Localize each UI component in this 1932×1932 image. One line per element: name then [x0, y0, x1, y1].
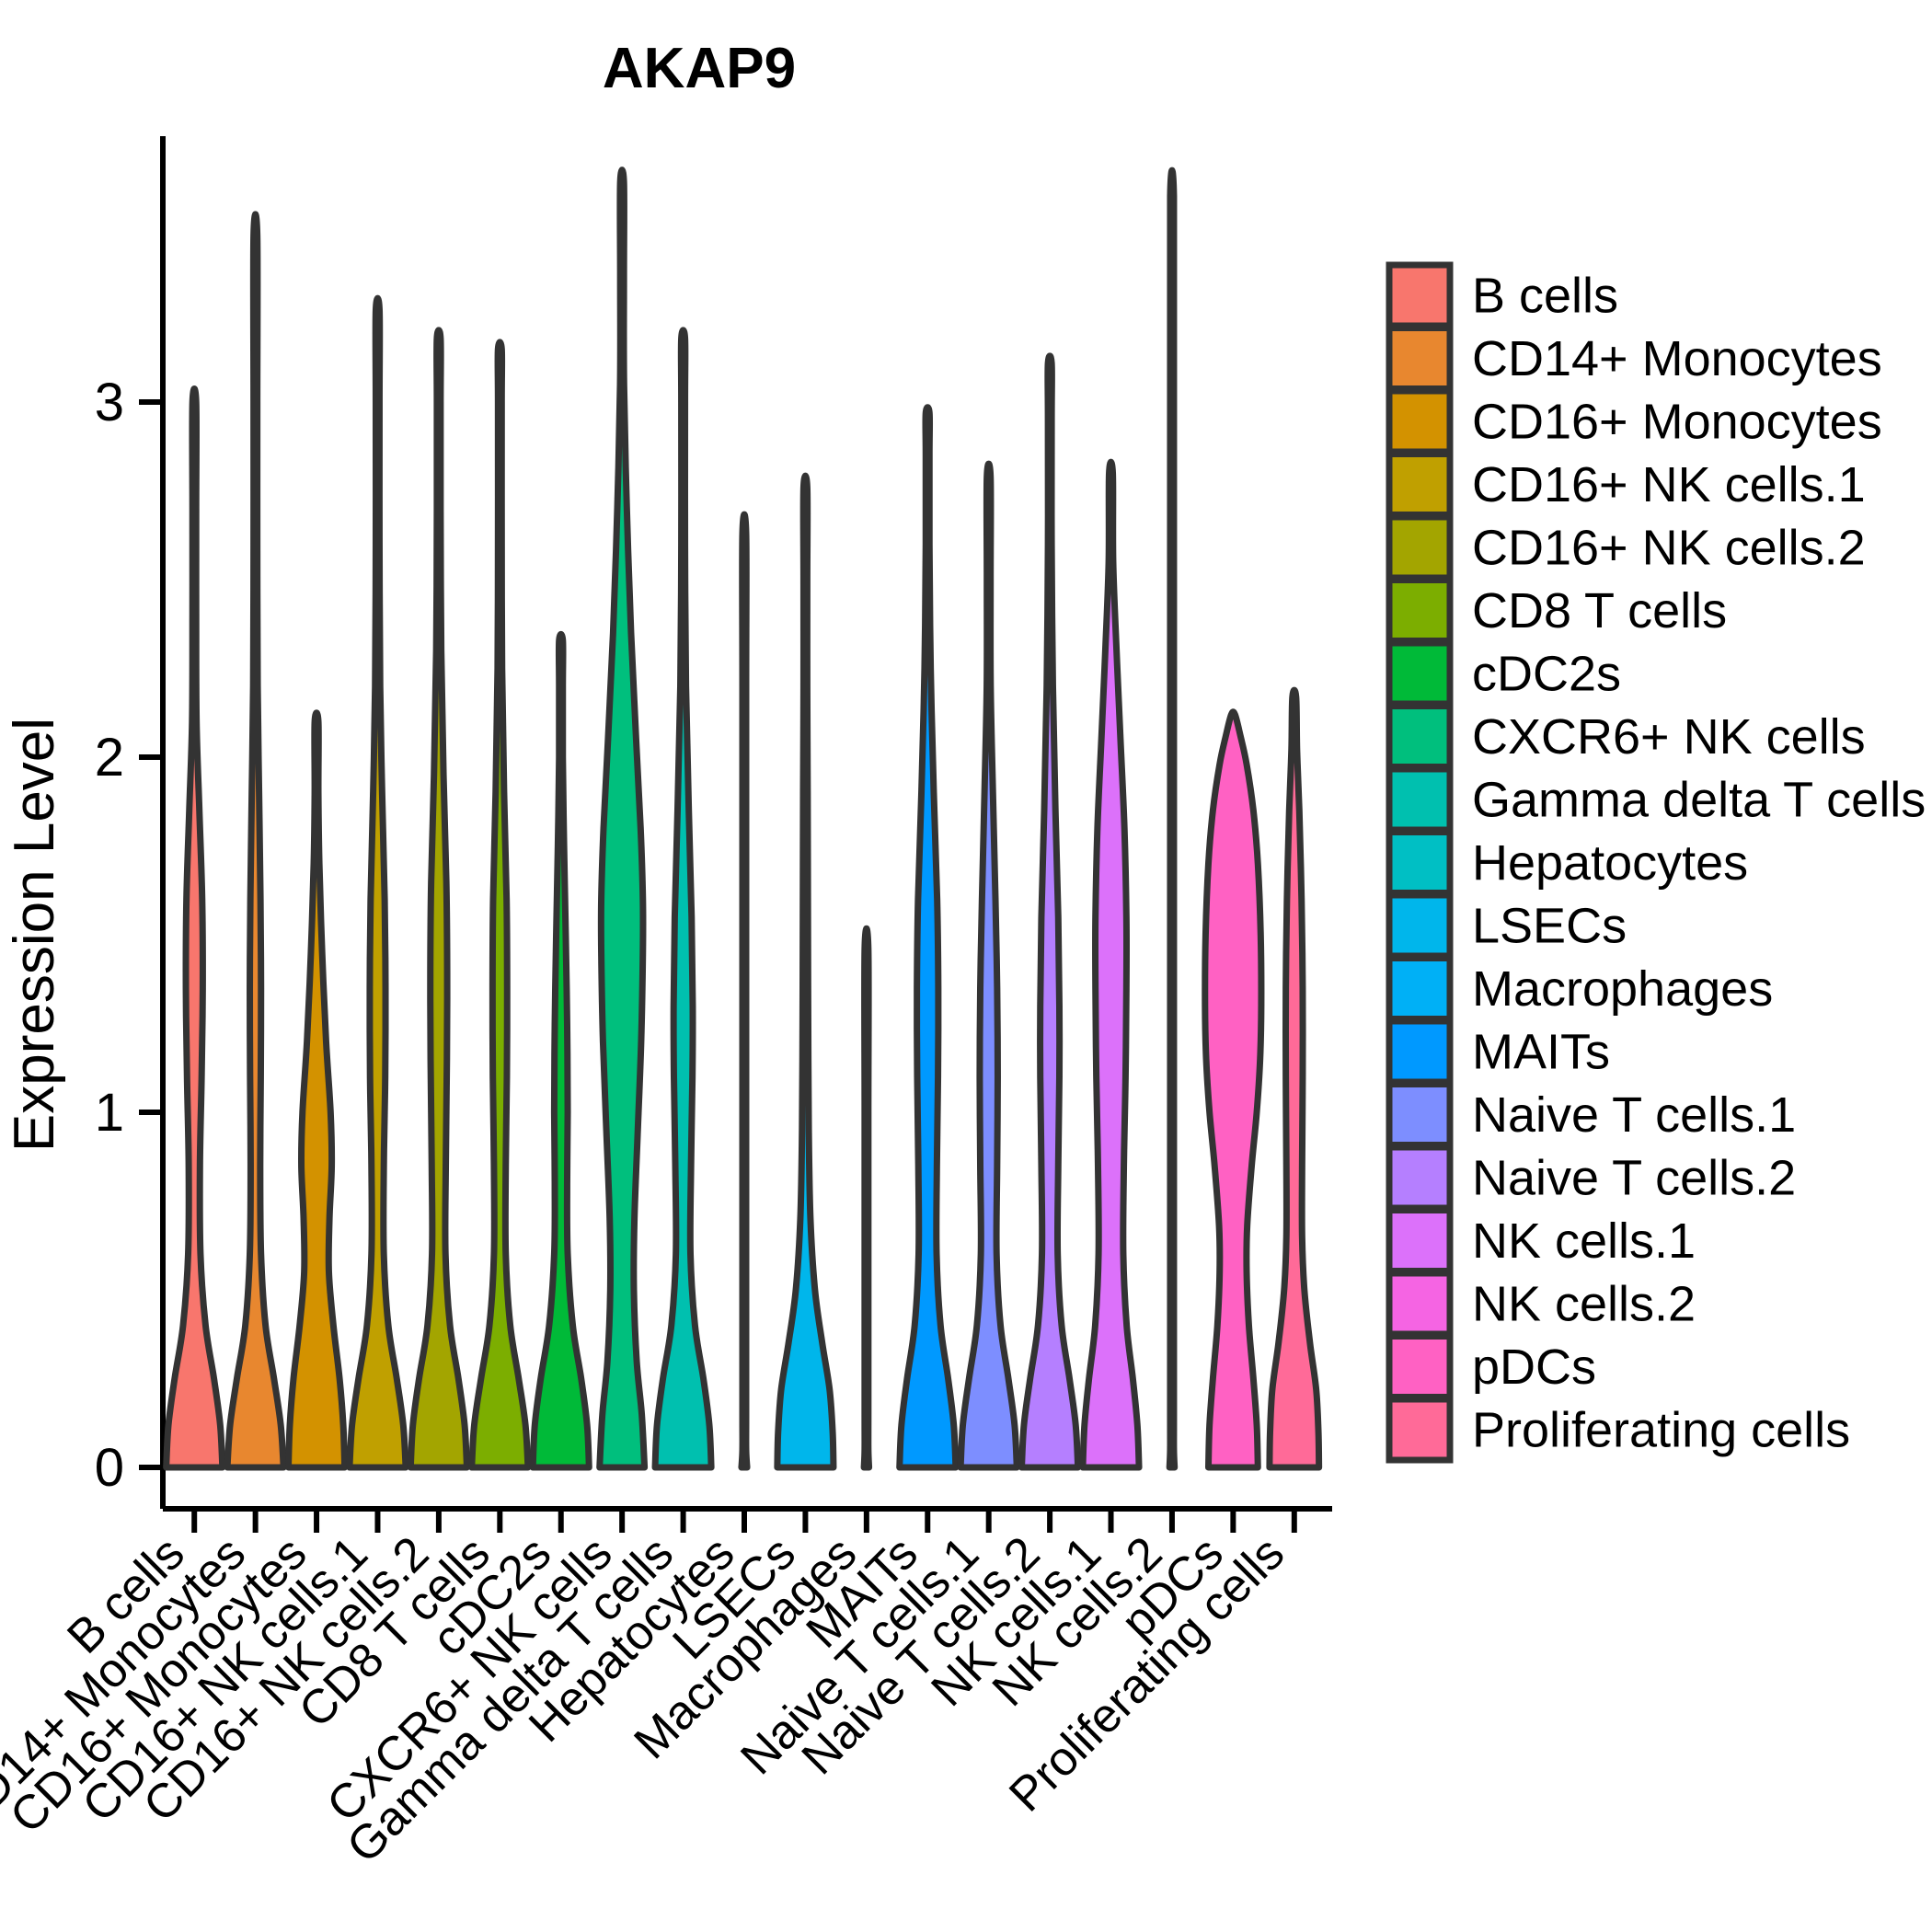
legend-label-cdc2s: cDC2s: [1472, 646, 1621, 701]
violin-hepatocytes[interactable]: [742, 514, 747, 1467]
violin-maits[interactable]: [900, 408, 956, 1467]
legend-swatch-b-cells[interactable]: [1389, 265, 1450, 326]
violin-nk-cells-1[interactable]: [1083, 462, 1139, 1467]
legend-swatch-cd16-nk-cells-1[interactable]: [1389, 454, 1450, 515]
legend-label-cd16-nk-cells-1: CD16+ NK cells.1: [1472, 457, 1866, 512]
legend-label-gamma-delta-t-cells: Gamma delta T cells: [1472, 772, 1926, 827]
legend-swatch-pdcs[interactable]: [1389, 1337, 1450, 1397]
legend-label-naive-t-cells-2: Naive T cells.2: [1472, 1150, 1796, 1205]
y-axis-label: Expression Level: [3, 718, 66, 1152]
legend-label-naive-t-cells-1: Naive T cells.1: [1472, 1087, 1796, 1143]
legend-swatch-nk-cells-1[interactable]: [1389, 1211, 1450, 1271]
legend-label-nk-cells-2: NK cells.2: [1472, 1276, 1696, 1331]
violin-proliferating-cells[interactable]: [1270, 690, 1319, 1467]
plot-canvas: AKAP90123Expression LevelB cellsCD14+ Mo…: [0, 0, 1932, 1932]
legend-swatch-macrophages[interactable]: [1389, 959, 1450, 1019]
legend-swatch-cd14-monocytes[interactable]: [1389, 328, 1450, 389]
legend-label-b-cells: B cells: [1472, 268, 1618, 323]
violin-naive-t-cells-2[interactable]: [1022, 356, 1078, 1467]
legend-swatch-cd16-nk-cells-2[interactable]: [1389, 517, 1450, 578]
violin-b-cells[interactable]: [167, 389, 223, 1467]
violin-nk-cells-2[interactable]: [1169, 170, 1175, 1467]
legend-label-cxcr6-nk-cells: CXCR6+ NK cells: [1472, 709, 1866, 765]
legend-label-hepatocytes: Hepatocytes: [1472, 835, 1748, 891]
legend-swatch-naive-t-cells-1[interactable]: [1389, 1085, 1450, 1145]
violin-cd16-nk-cells-1[interactable]: [350, 298, 406, 1467]
legend: B cellsCD14+ MonocytesCD16+ MonocytesCD1…: [1389, 265, 1926, 1460]
y-tick-label: 1: [95, 1083, 124, 1143]
violin-cd16-nk-cells-2[interactable]: [410, 330, 466, 1467]
violin-plot-figure: AKAP90123Expression LevelB cellsCD14+ Mo…: [0, 0, 1932, 1932]
y-tick-label: 2: [95, 728, 124, 788]
legend-label-cd14-monocytes: CD14+ Monocytes: [1472, 331, 1882, 386]
violin-macrophages[interactable]: [864, 928, 869, 1467]
legend-swatch-cd16-monocytes[interactable]: [1389, 391, 1450, 452]
violin-cd14-monocytes[interactable]: [227, 214, 283, 1467]
violin-naive-t-cells-1[interactable]: [960, 464, 1017, 1467]
violin-pdcs[interactable]: [1205, 712, 1261, 1467]
legend-label-cd16-nk-cells-2: CD16+ NK cells.2: [1472, 520, 1866, 575]
legend-label-macrophages: Macrophages: [1472, 961, 1773, 1017]
violin-cxcr6-nk-cells[interactable]: [600, 170, 645, 1467]
legend-swatch-cd8-t-cells[interactable]: [1389, 581, 1450, 641]
violin-cd8-t-cells[interactable]: [472, 342, 528, 1467]
legend-swatch-gamma-delta-t-cells[interactable]: [1389, 769, 1450, 830]
violin-cd16-monocytes[interactable]: [289, 713, 345, 1467]
legend-swatch-proliferating-cells[interactable]: [1389, 1399, 1450, 1460]
legend-swatch-cdc2s[interactable]: [1389, 643, 1450, 704]
violin-gamma-delta-t-cells[interactable]: [655, 330, 711, 1467]
legend-swatch-cxcr6-nk-cells[interactable]: [1389, 707, 1450, 767]
y-tick-label: 0: [95, 1438, 124, 1498]
violin-lsecs[interactable]: [777, 476, 834, 1467]
legend-swatch-naive-t-cells-2[interactable]: [1389, 1147, 1450, 1208]
chart-title: AKAP9: [603, 37, 796, 100]
legend-label-proliferating-cells: Proliferating cells: [1472, 1402, 1850, 1457]
violin-cdc2s[interactable]: [533, 634, 589, 1467]
legend-swatch-hepatocytes[interactable]: [1389, 833, 1450, 893]
legend-label-pdcs: pDCs: [1472, 1340, 1596, 1395]
legend-label-cd8-t-cells: CD8 T cells: [1472, 583, 1727, 638]
legend-label-cd16-monocytes: CD16+ Monocytes: [1472, 394, 1882, 449]
legend-swatch-nk-cells-2[interactable]: [1389, 1273, 1450, 1334]
y-tick-label: 3: [95, 373, 124, 432]
legend-label-nk-cells-1: NK cells.1: [1472, 1213, 1696, 1269]
legend-swatch-maits[interactable]: [1389, 1021, 1450, 1082]
legend-label-maits: MAITs: [1472, 1024, 1610, 1079]
legend-swatch-lsecs[interactable]: [1389, 895, 1450, 956]
legend-label-lsecs: LSECs: [1472, 898, 1627, 953]
